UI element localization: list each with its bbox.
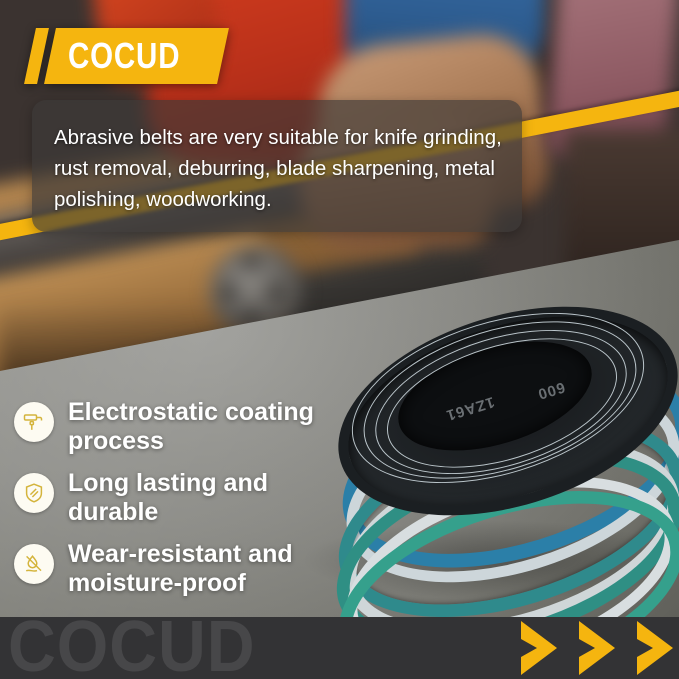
logo-plate: COCUD — [44, 28, 229, 84]
chevron-right-icon — [517, 617, 563, 679]
feature-list: Electrostatic coating process Long lasti… — [14, 398, 354, 611]
feature-label: Wear-resistant and moisture-proof — [68, 540, 354, 598]
feature-item: Electrostatic coating process — [14, 398, 354, 456]
paint-roller-icon — [14, 402, 54, 442]
feature-item: Long lasting and durable — [14, 469, 354, 527]
no-moisture-icon — [14, 544, 54, 584]
chevron-group — [517, 617, 679, 679]
feature-label: Electrostatic coating process — [68, 398, 354, 456]
bottom-banner: COCUD — [0, 617, 679, 679]
chevron-right-icon — [633, 617, 679, 679]
watermark-text: COCUD — [8, 617, 255, 679]
product-infographic: 1ZA61 600 COCUD Abrasive belts are very … — [0, 0, 679, 679]
description-callout: Abrasive belts are very suitable for kni… — [32, 100, 522, 232]
shield-icon — [14, 473, 54, 513]
logo-text: COCUD — [68, 38, 205, 74]
feature-label: Long lasting and durable — [68, 469, 354, 527]
feature-item: Wear-resistant and moisture-proof — [14, 540, 354, 598]
chevron-right-icon — [575, 617, 621, 679]
brand-logo: COCUD — [30, 28, 223, 84]
description-text: Abrasive belts are very suitable for kni… — [54, 122, 504, 215]
abrasive-belts-product: 1ZA61 600 — [325, 312, 679, 612]
